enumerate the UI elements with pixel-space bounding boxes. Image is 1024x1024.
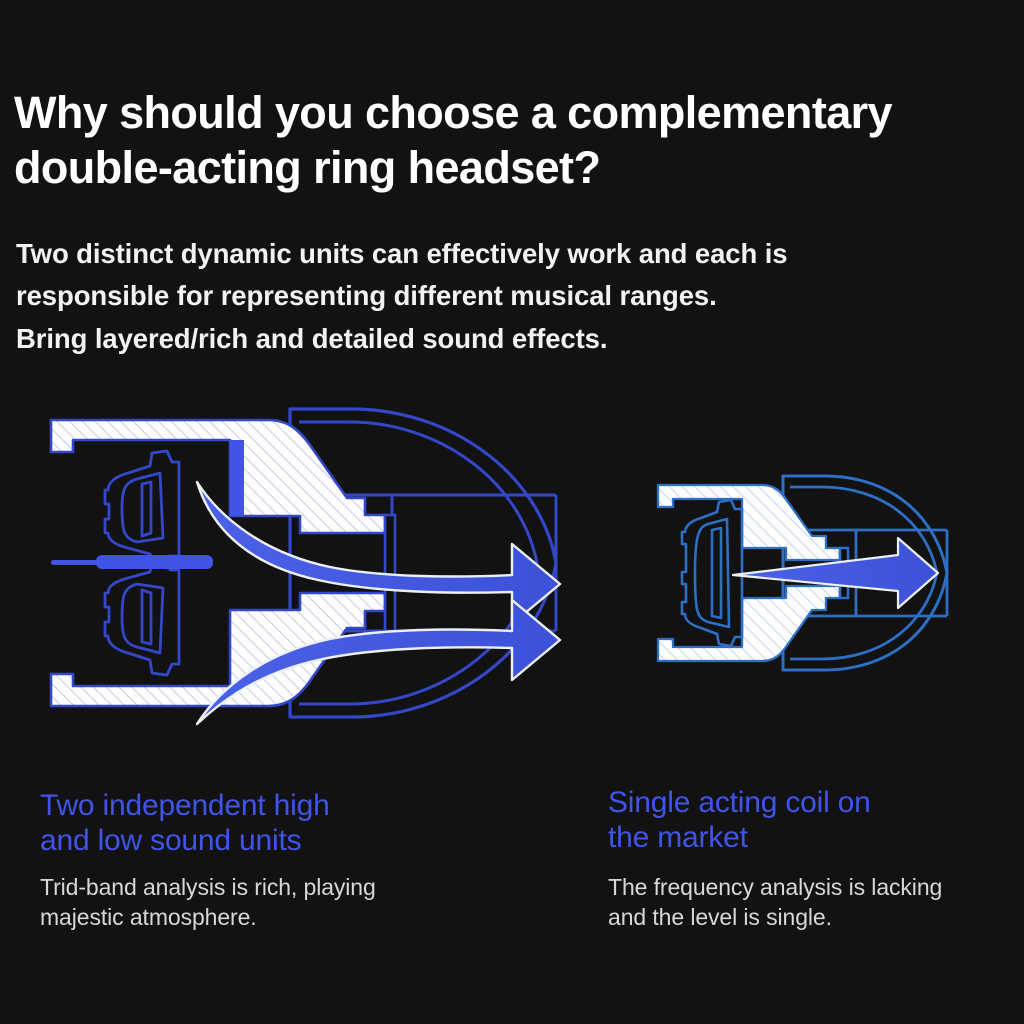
left-lead-wire	[51, 555, 213, 569]
left-driver-unit-lower	[105, 558, 179, 675]
caption-body-single-coil: The frequency analysis is lacking and th…	[608, 873, 1008, 932]
single-coil-cutaway-diagram	[658, 476, 947, 670]
right-driver-unit	[682, 500, 742, 646]
left-driver-unit-upper	[105, 451, 179, 568]
caption-single-coil: Single acting coil on the market The fre…	[608, 785, 1008, 932]
page-subheading: Two distinct dynamic units can effective…	[16, 233, 1016, 361]
left-bore-wall-top	[385, 515, 395, 631]
dual-dynamic-driver-cutaway-diagram	[51, 409, 560, 724]
caption-body-dual-driver: Trid-band analysis is rich, playing maje…	[40, 873, 510, 932]
diagram-area	[0, 378, 1024, 768]
left-center-post	[230, 440, 244, 516]
caption-dual-driver: Two independent high and low sound units…	[40, 788, 510, 932]
page-headline: Why should you choose a complementary do…	[14, 86, 1014, 196]
caption-title-dual-driver: Two independent high and low sound units	[40, 788, 510, 858]
infographic-page: Why should you choose a complementary do…	[0, 0, 1024, 1024]
caption-title-single-coil: Single acting coil on the market	[608, 785, 1008, 855]
